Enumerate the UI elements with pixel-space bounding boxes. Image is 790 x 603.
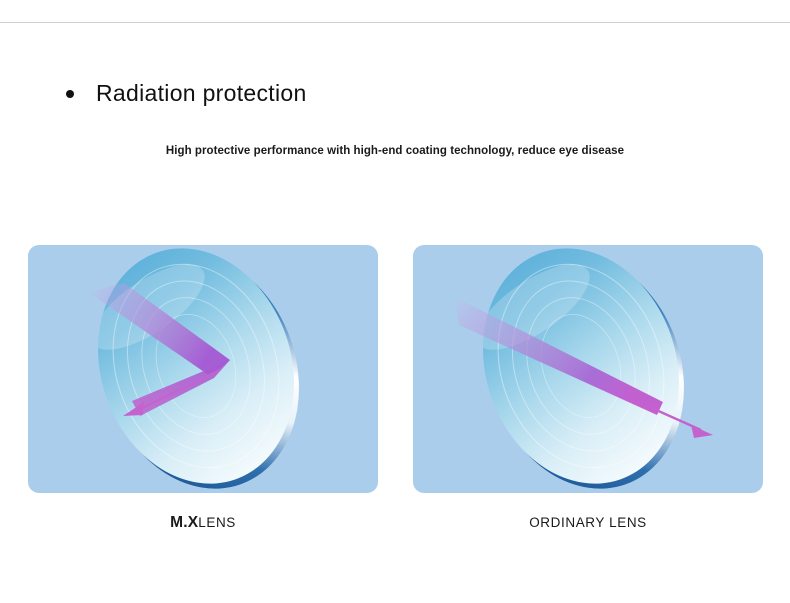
- bullet-dot-icon: [66, 90, 74, 98]
- page-title: Radiation protection: [66, 80, 307, 107]
- ordinary-lens-illustration: [413, 245, 763, 493]
- caption-ordinary-lens: ORDINARY LENS: [413, 514, 763, 532]
- caption-mx-lens-strong: M.X: [170, 514, 198, 531]
- mx-lens-illustration: [28, 245, 378, 493]
- page-subtitle: High protective performance with high-en…: [0, 145, 790, 157]
- panel-ordinary-lens: [413, 245, 763, 493]
- top-divider: [0, 22, 790, 23]
- caption-ordinary-lens-label: ORDINARY LENS: [529, 515, 647, 530]
- transmitted-arrow-head: [691, 425, 713, 438]
- caption-mx-lens-normal: LENS: [198, 515, 236, 530]
- page-title-label: Radiation protection: [96, 80, 307, 107]
- caption-mx-lens: M.XLENS: [28, 514, 378, 532]
- panel-mx-lens: [28, 245, 378, 493]
